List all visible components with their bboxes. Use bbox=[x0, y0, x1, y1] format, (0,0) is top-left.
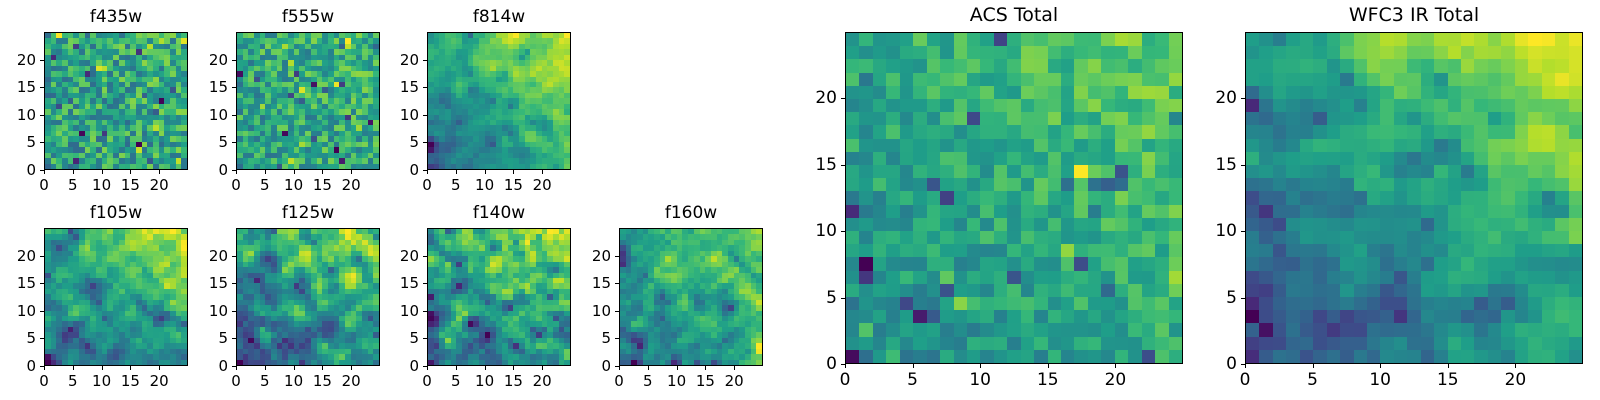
heatmap-f105w bbox=[45, 229, 187, 365]
y-tick-f555w-10 bbox=[232, 115, 236, 116]
x-tick-label-f105w-15: 15 bbox=[121, 372, 140, 390]
panel-f160w: f160w0510152005101520 bbox=[619, 228, 763, 366]
x-tick-f105w-0 bbox=[44, 366, 45, 370]
x-tick-f140w-0 bbox=[427, 366, 428, 370]
y-tick-label-wfc3-ir-total-10: 10 bbox=[1203, 221, 1237, 241]
y-tick-label-f160w-10: 10 bbox=[577, 302, 611, 320]
y-tick-wfc3-ir-total-10 bbox=[1241, 231, 1245, 232]
x-tick-label-wfc3-ir-total-5: 5 bbox=[1307, 370, 1318, 390]
y-tick-label-f160w-5: 5 bbox=[577, 329, 611, 347]
y-tick-label-f105w-0: 0 bbox=[2, 357, 36, 375]
y-tick-f160w-20 bbox=[615, 256, 619, 257]
x-tick-label-f160w-15: 15 bbox=[696, 372, 715, 390]
y-tick-label-f105w-5: 5 bbox=[2, 329, 36, 347]
y-tick-f105w-10 bbox=[40, 311, 44, 312]
y-tick-f160w-5 bbox=[615, 338, 619, 339]
heatmap-f555w bbox=[237, 33, 379, 169]
y-tick-label-f140w-10: 10 bbox=[385, 302, 419, 320]
x-tick-f435w-10 bbox=[102, 170, 103, 174]
x-tick-label-acs-total-5: 5 bbox=[907, 370, 918, 390]
x-tick-label-f160w-5: 5 bbox=[643, 372, 653, 390]
y-tick-label-f140w-20: 20 bbox=[385, 247, 419, 265]
x-tick-wfc3-ir-total-10 bbox=[1380, 364, 1381, 368]
y-tick-f105w-0 bbox=[40, 366, 44, 367]
y-tick-f125w-0 bbox=[232, 366, 236, 367]
x-tick-f814w-10 bbox=[485, 170, 486, 174]
y-tick-label-f125w-10: 10 bbox=[194, 302, 228, 320]
x-tick-label-wfc3-ir-total-10: 10 bbox=[1369, 370, 1391, 390]
y-tick-label-f814w-5: 5 bbox=[385, 133, 419, 151]
y-tick-f140w-20 bbox=[423, 256, 427, 257]
x-tick-label-f125w-15: 15 bbox=[313, 372, 332, 390]
y-tick-f160w-0 bbox=[615, 366, 619, 367]
y-tick-wfc3-ir-total-15 bbox=[1241, 165, 1245, 166]
y-tick-label-f105w-15: 15 bbox=[2, 274, 36, 292]
y-tick-label-f435w-10: 10 bbox=[2, 106, 36, 124]
x-tick-label-f140w-20: 20 bbox=[533, 372, 552, 390]
y-tick-label-f125w-20: 20 bbox=[194, 247, 228, 265]
panel-title-wfc3-ir-total: WFC3 IR Total bbox=[1245, 4, 1583, 26]
y-tick-f814w-0 bbox=[423, 170, 427, 171]
y-tick-label-wfc3-ir-total-0: 0 bbox=[1203, 354, 1237, 374]
x-tick-label-f105w-20: 20 bbox=[150, 372, 169, 390]
x-tick-label-f555w-0: 0 bbox=[231, 176, 241, 194]
x-tick-label-f125w-0: 0 bbox=[231, 372, 241, 390]
y-tick-label-f435w-20: 20 bbox=[2, 51, 36, 69]
y-tick-label-f814w-20: 20 bbox=[385, 51, 419, 69]
x-tick-label-f555w-20: 20 bbox=[342, 176, 361, 194]
axes-f140w bbox=[427, 228, 571, 366]
y-tick-label-acs-total-15: 15 bbox=[803, 155, 837, 175]
y-tick-label-f555w-0: 0 bbox=[194, 161, 228, 179]
y-tick-acs-total-10 bbox=[841, 231, 845, 232]
y-tick-label-f555w-10: 10 bbox=[194, 106, 228, 124]
y-tick-wfc3-ir-total-0 bbox=[1241, 364, 1245, 365]
heatmap-f435w bbox=[45, 33, 187, 169]
x-tick-acs-total-10 bbox=[980, 364, 981, 368]
y-tick-label-acs-total-0: 0 bbox=[803, 354, 837, 374]
x-tick-f105w-10 bbox=[102, 366, 103, 370]
y-tick-f435w-20 bbox=[40, 60, 44, 61]
x-tick-label-f125w-20: 20 bbox=[342, 372, 361, 390]
x-tick-label-f435w-0: 0 bbox=[39, 176, 49, 194]
x-tick-f555w-15 bbox=[322, 170, 323, 174]
axes-f555w bbox=[236, 32, 380, 170]
axes-f814w bbox=[427, 32, 571, 170]
x-tick-f160w-10 bbox=[677, 366, 678, 370]
x-tick-f105w-20 bbox=[159, 366, 160, 370]
x-tick-f160w-0 bbox=[619, 366, 620, 370]
y-tick-label-acs-total-10: 10 bbox=[803, 221, 837, 241]
y-tick-f435w-15 bbox=[40, 87, 44, 88]
x-tick-label-f140w-5: 5 bbox=[451, 372, 461, 390]
x-tick-acs-total-15 bbox=[1048, 364, 1049, 368]
y-tick-acs-total-15 bbox=[841, 165, 845, 166]
y-tick-label-f160w-0: 0 bbox=[577, 357, 611, 375]
y-tick-label-wfc3-ir-total-5: 5 bbox=[1203, 288, 1237, 308]
y-tick-f140w-15 bbox=[423, 283, 427, 284]
y-tick-label-f160w-20: 20 bbox=[577, 247, 611, 265]
y-tick-f105w-15 bbox=[40, 283, 44, 284]
y-tick-label-f140w-5: 5 bbox=[385, 329, 419, 347]
x-tick-label-wfc3-ir-total-15: 15 bbox=[1437, 370, 1459, 390]
y-tick-acs-total-5 bbox=[841, 298, 845, 299]
heatmap-wfc3-ir-total bbox=[1246, 33, 1582, 363]
x-tick-label-f160w-10: 10 bbox=[667, 372, 686, 390]
x-tick-f160w-20 bbox=[734, 366, 735, 370]
x-tick-f814w-15 bbox=[513, 170, 514, 174]
y-tick-label-f555w-5: 5 bbox=[194, 133, 228, 151]
x-tick-label-f140w-10: 10 bbox=[475, 372, 494, 390]
axes-acs-total bbox=[845, 32, 1183, 364]
y-tick-f555w-15 bbox=[232, 87, 236, 88]
y-tick-f435w-10 bbox=[40, 115, 44, 116]
y-tick-label-f125w-5: 5 bbox=[194, 329, 228, 347]
x-tick-label-acs-total-20: 20 bbox=[1105, 370, 1127, 390]
x-tick-f140w-10 bbox=[485, 366, 486, 370]
figure-canvas: f435w0510152005101520f555w05101520051015… bbox=[0, 0, 1600, 400]
y-tick-f814w-15 bbox=[423, 87, 427, 88]
x-tick-acs-total-20 bbox=[1115, 364, 1116, 368]
heatmap-acs-total bbox=[846, 33, 1182, 363]
panel-title-f125w: f125w bbox=[236, 203, 380, 223]
y-tick-f125w-20 bbox=[232, 256, 236, 257]
x-tick-label-acs-total-0: 0 bbox=[840, 370, 851, 390]
y-tick-label-f105w-20: 20 bbox=[2, 247, 36, 265]
y-tick-label-f140w-0: 0 bbox=[385, 357, 419, 375]
heatmap-f160w bbox=[620, 229, 762, 365]
axes-wfc3-ir-total bbox=[1245, 32, 1583, 364]
axes-f160w bbox=[619, 228, 763, 366]
x-tick-f814w-5 bbox=[456, 170, 457, 174]
y-tick-label-wfc3-ir-total-15: 15 bbox=[1203, 155, 1237, 175]
y-tick-label-f105w-10: 10 bbox=[2, 302, 36, 320]
y-tick-label-f125w-0: 0 bbox=[194, 357, 228, 375]
y-tick-f160w-10 bbox=[615, 311, 619, 312]
x-tick-f555w-10 bbox=[294, 170, 295, 174]
x-tick-f555w-20 bbox=[351, 170, 352, 174]
y-tick-f814w-5 bbox=[423, 142, 427, 143]
y-tick-wfc3-ir-total-5 bbox=[1241, 298, 1245, 299]
panel-f814w: f814w0510152005101520 bbox=[427, 32, 571, 170]
x-tick-label-f555w-5: 5 bbox=[260, 176, 270, 194]
y-tick-label-f555w-15: 15 bbox=[194, 78, 228, 96]
x-tick-label-f105w-10: 10 bbox=[92, 372, 111, 390]
y-tick-label-f435w-0: 0 bbox=[2, 161, 36, 179]
panel-title-f555w: f555w bbox=[236, 7, 380, 27]
y-tick-f160w-15 bbox=[615, 283, 619, 284]
y-tick-f555w-0 bbox=[232, 170, 236, 171]
x-tick-f105w-5 bbox=[73, 366, 74, 370]
x-tick-label-f814w-5: 5 bbox=[451, 176, 461, 194]
x-tick-label-f140w-0: 0 bbox=[422, 372, 432, 390]
y-tick-label-f160w-15: 15 bbox=[577, 274, 611, 292]
axes-f435w bbox=[44, 32, 188, 170]
x-tick-acs-total-5 bbox=[913, 364, 914, 368]
x-tick-label-f435w-15: 15 bbox=[121, 176, 140, 194]
heatmap-f140w bbox=[428, 229, 570, 365]
x-tick-wfc3-ir-total-0 bbox=[1245, 364, 1246, 368]
panel-f125w: f125w0510152005101520 bbox=[236, 228, 380, 366]
x-tick-f814w-0 bbox=[427, 170, 428, 174]
y-tick-acs-total-0 bbox=[841, 364, 845, 365]
y-tick-f555w-20 bbox=[232, 60, 236, 61]
x-tick-label-f814w-20: 20 bbox=[533, 176, 552, 194]
y-tick-f140w-5 bbox=[423, 338, 427, 339]
x-tick-f125w-15 bbox=[322, 366, 323, 370]
y-tick-f555w-5 bbox=[232, 142, 236, 143]
x-tick-label-wfc3-ir-total-20: 20 bbox=[1505, 370, 1527, 390]
panel-title-f814w: f814w bbox=[427, 7, 571, 27]
y-tick-label-f814w-10: 10 bbox=[385, 106, 419, 124]
y-tick-f125w-5 bbox=[232, 338, 236, 339]
x-tick-label-f814w-15: 15 bbox=[504, 176, 523, 194]
y-tick-label-f125w-15: 15 bbox=[194, 274, 228, 292]
y-tick-label-f140w-15: 15 bbox=[385, 274, 419, 292]
panel-f140w: f140w0510152005101520 bbox=[427, 228, 571, 366]
x-tick-f160w-5 bbox=[648, 366, 649, 370]
x-tick-label-f555w-15: 15 bbox=[313, 176, 332, 194]
x-tick-f160w-15 bbox=[705, 366, 706, 370]
x-tick-label-f435w-5: 5 bbox=[68, 176, 78, 194]
y-tick-f435w-5 bbox=[40, 142, 44, 143]
x-tick-acs-total-0 bbox=[845, 364, 846, 368]
x-tick-f435w-0 bbox=[44, 170, 45, 174]
axes-f125w bbox=[236, 228, 380, 366]
x-tick-label-acs-total-15: 15 bbox=[1037, 370, 1059, 390]
panel-wfc3-ir-total: WFC3 IR Total0510152005101520 bbox=[1245, 32, 1583, 364]
y-tick-wfc3-ir-total-20 bbox=[1241, 98, 1245, 99]
x-tick-label-f105w-0: 0 bbox=[39, 372, 49, 390]
heatmap-f814w bbox=[428, 33, 570, 169]
x-tick-label-wfc3-ir-total-0: 0 bbox=[1240, 370, 1251, 390]
x-tick-label-f814w-10: 10 bbox=[475, 176, 494, 194]
x-tick-label-f435w-20: 20 bbox=[150, 176, 169, 194]
x-tick-f814w-20 bbox=[542, 170, 543, 174]
x-tick-label-f125w-10: 10 bbox=[284, 372, 303, 390]
x-tick-f140w-5 bbox=[456, 366, 457, 370]
x-tick-f140w-15 bbox=[513, 366, 514, 370]
x-tick-wfc3-ir-total-20 bbox=[1515, 364, 1516, 368]
y-tick-label-f814w-15: 15 bbox=[385, 78, 419, 96]
y-tick-f140w-10 bbox=[423, 311, 427, 312]
x-tick-f125w-10 bbox=[294, 366, 295, 370]
y-tick-f125w-10 bbox=[232, 311, 236, 312]
y-tick-label-f814w-0: 0 bbox=[385, 161, 419, 179]
y-tick-acs-total-20 bbox=[841, 98, 845, 99]
y-tick-f105w-20 bbox=[40, 256, 44, 257]
panel-f555w: f555w0510152005101520 bbox=[236, 32, 380, 170]
panel-f435w: f435w0510152005101520 bbox=[44, 32, 188, 170]
x-tick-label-f160w-0: 0 bbox=[614, 372, 624, 390]
y-tick-f435w-0 bbox=[40, 170, 44, 171]
x-tick-label-f160w-20: 20 bbox=[725, 372, 744, 390]
y-tick-f125w-15 bbox=[232, 283, 236, 284]
x-tick-label-f125w-5: 5 bbox=[260, 372, 270, 390]
x-tick-f125w-5 bbox=[265, 366, 266, 370]
panel-title-f105w: f105w bbox=[44, 203, 188, 223]
y-tick-label-f435w-15: 15 bbox=[2, 78, 36, 96]
x-tick-wfc3-ir-total-5 bbox=[1313, 364, 1314, 368]
y-tick-f140w-0 bbox=[423, 366, 427, 367]
x-tick-f140w-20 bbox=[542, 366, 543, 370]
x-tick-f435w-20 bbox=[159, 170, 160, 174]
x-tick-f105w-15 bbox=[130, 366, 131, 370]
x-tick-f555w-0 bbox=[236, 170, 237, 174]
panel-title-f140w: f140w bbox=[427, 203, 571, 223]
panel-title-f160w: f160w bbox=[619, 203, 763, 223]
x-tick-f555w-5 bbox=[265, 170, 266, 174]
panel-title-acs-total: ACS Total bbox=[845, 4, 1183, 26]
x-tick-label-f105w-5: 5 bbox=[68, 372, 78, 390]
x-tick-label-f140w-15: 15 bbox=[504, 372, 523, 390]
panel-acs-total: ACS Total0510152005101520 bbox=[845, 32, 1183, 364]
x-tick-label-f435w-10: 10 bbox=[92, 176, 111, 194]
y-tick-f814w-10 bbox=[423, 115, 427, 116]
y-tick-f105w-5 bbox=[40, 338, 44, 339]
y-tick-label-acs-total-20: 20 bbox=[803, 88, 837, 108]
axes-f105w bbox=[44, 228, 188, 366]
x-tick-f435w-15 bbox=[130, 170, 131, 174]
x-tick-label-f555w-10: 10 bbox=[284, 176, 303, 194]
x-tick-label-acs-total-10: 10 bbox=[969, 370, 991, 390]
heatmap-f125w bbox=[237, 229, 379, 365]
y-tick-label-f435w-5: 5 bbox=[2, 133, 36, 151]
panel-title-f435w: f435w bbox=[44, 7, 188, 27]
y-tick-label-wfc3-ir-total-20: 20 bbox=[1203, 88, 1237, 108]
x-tick-f125w-20 bbox=[351, 366, 352, 370]
x-tick-f125w-0 bbox=[236, 366, 237, 370]
y-tick-f814w-20 bbox=[423, 60, 427, 61]
x-tick-f435w-5 bbox=[73, 170, 74, 174]
panel-f105w: f105w0510152005101520 bbox=[44, 228, 188, 366]
x-tick-wfc3-ir-total-15 bbox=[1448, 364, 1449, 368]
y-tick-label-f555w-20: 20 bbox=[194, 51, 228, 69]
x-tick-label-f814w-0: 0 bbox=[422, 176, 432, 194]
y-tick-label-acs-total-5: 5 bbox=[803, 288, 837, 308]
